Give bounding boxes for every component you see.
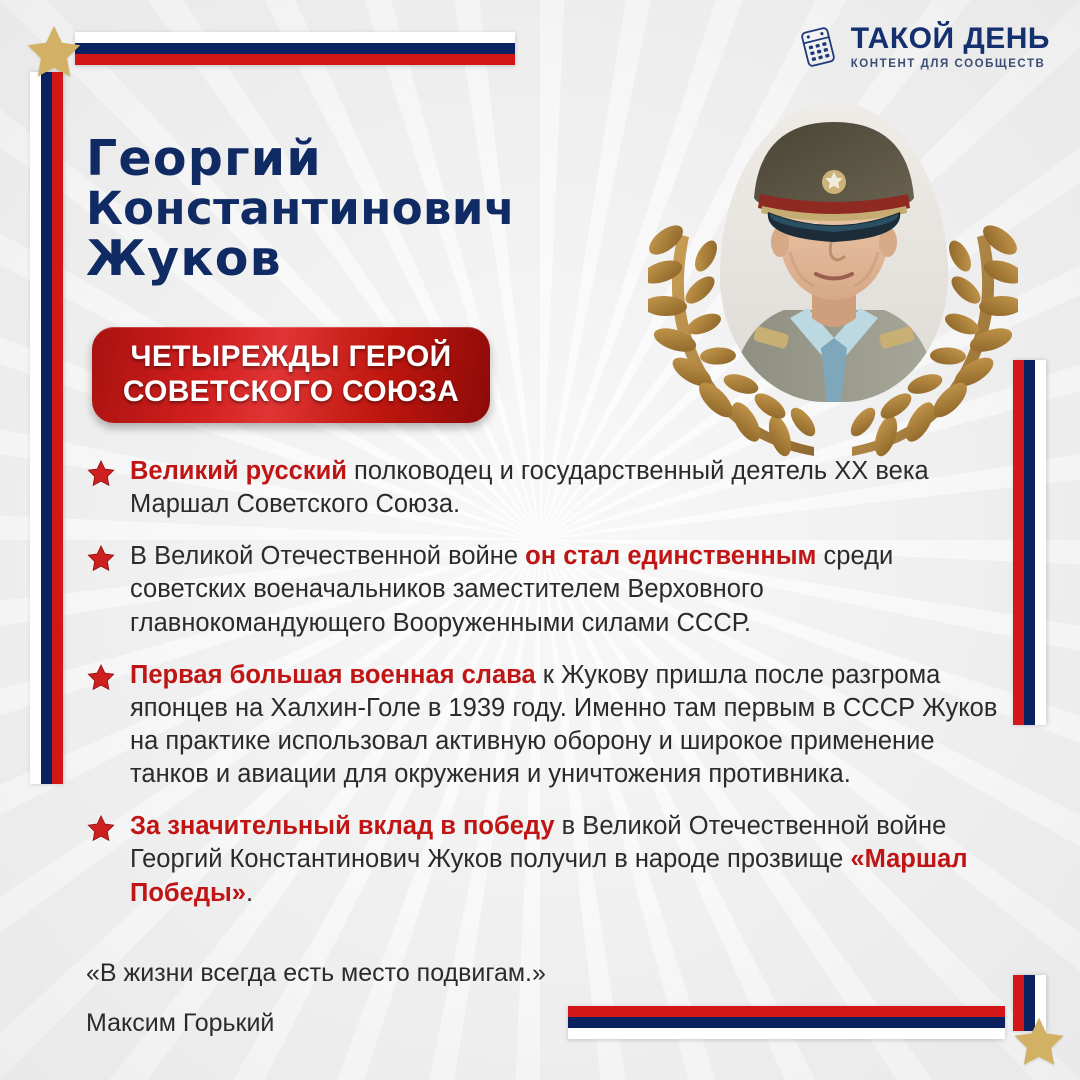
quote-text: «В жизни всегда есть место подвигам.» (86, 955, 546, 993)
tricolor-bar-top-left (75, 32, 515, 65)
facts-list: Великий русский полководец и государстве… (86, 455, 1006, 929)
badge-line-2: СОВЕТСКОГО СОЮЗА (123, 375, 459, 410)
calendar-icon (796, 24, 840, 70)
portrait-block (648, 100, 1018, 460)
name-line-1: Георгий (86, 133, 686, 185)
fact-highlight: он стал единственным (525, 542, 816, 570)
fact-text: В Великой Отечественной войне он стал ед… (130, 540, 1006, 639)
fact-highlight: Первая большая военная слава (130, 661, 536, 689)
fact-pre: В Великой Отечественной войне (130, 542, 525, 570)
quote-block: «В жизни всегда есть место подвигам.» Ма… (86, 955, 546, 1042)
list-item: За значительный вклад в победу в Великой… (86, 810, 1006, 909)
red-star-icon (86, 544, 116, 639)
red-star-icon (86, 663, 116, 792)
fact-highlight: За значительный вклад в победу (130, 812, 555, 840)
poster-canvas: ТАКОЙ ДЕНЬ КОНТЕНТ ДЛЯ СООБЩЕСТВ Георгий… (0, 0, 1080, 1080)
tricolor-bar-bottom-right (568, 1006, 1005, 1039)
red-star-icon (86, 459, 116, 521)
badge-line-1: ЧЕТЫРЕЖДЫ ГЕРОЙ (123, 340, 459, 375)
gold-star-icon-bottom-right (1010, 1014, 1068, 1070)
name-line-2: Константинович (86, 185, 686, 233)
person-name: Георгий Константинович Жуков (86, 133, 686, 285)
tricolor-bar-left (30, 72, 63, 784)
quote-author: Максим Горький (86, 1005, 546, 1043)
list-item: В Великой Отечественной войне он стал ед… (86, 540, 1006, 639)
brand-logo[interactable]: ТАКОЙ ДЕНЬ КОНТЕНТ ДЛЯ СООБЩЕСТВ (796, 24, 1050, 71)
fact-text: За значительный вклад в победу в Великой… (130, 810, 1006, 909)
list-item: Первая большая военная слава к Жукову пр… (86, 659, 1006, 792)
fact-text: Великий русский полководец и государстве… (130, 455, 1006, 521)
logo-subtitle: КОНТЕНТ ДЛЯ СООБЩЕСТВ (851, 59, 1050, 71)
fact-text: Первая большая военная слава к Жукову пр… (130, 659, 1006, 792)
fact-highlight: Великий русский (130, 457, 347, 485)
name-line-3: Жуков (86, 233, 686, 285)
fact-tail: . (246, 879, 253, 907)
logo-title: ТАКОЙ ДЕНЬ (851, 24, 1050, 54)
honor-badge: ЧЕТЫРЕЖДЫ ГЕРОЙ СОВЕТСКОГО СОЮЗА (92, 327, 490, 423)
laurel-wreath-icon (648, 220, 1018, 460)
gold-star-icon-top-left (23, 22, 85, 82)
red-star-icon (86, 814, 116, 909)
list-item: Великий русский полководец и государстве… (86, 455, 1006, 521)
